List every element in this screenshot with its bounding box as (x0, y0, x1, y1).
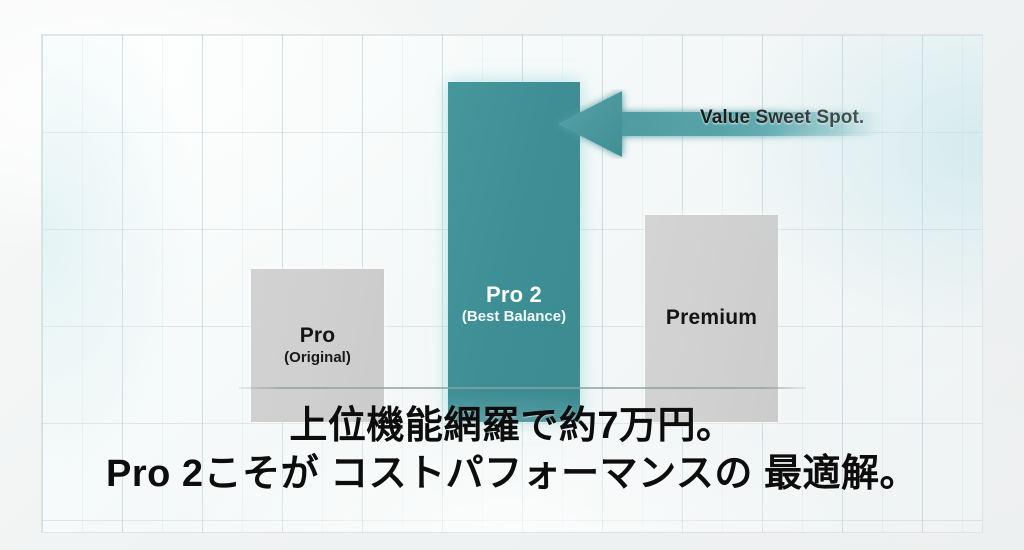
caption-line-2-highlight: コストパフォーマンスの (330, 453, 753, 495)
caption-line-2-highlight-wrap: コストパフォーマンスの (330, 451, 753, 498)
caption-line-2: Pro 2こそが コストパフォーマンスの 最適解。 (41, 451, 983, 498)
caption-line-1: 上位機能網羅で約7万円。 (41, 404, 983, 449)
value-sweet-spot-callout: Value Sweet Spot. (552, 89, 952, 159)
bar-pro-2-labels: Pro 2 (Best Balance) (462, 283, 566, 325)
caption-line-2-prefix: Pro 2こそが (106, 453, 319, 495)
caption-block: 上位機能網羅で約7万円。 Pro 2こそが コストパフォーマンスの 最適解。 (41, 404, 983, 498)
bar-pro-2-sublabel: (Best Balance) (462, 308, 566, 325)
caption-line-2-suffix: 最適解。 (764, 453, 918, 495)
bar-pro-label: Pro (284, 325, 351, 347)
bar-pro-sublabel: (Original) (284, 349, 351, 366)
bar-pro-labels: Pro (Original) (284, 325, 351, 366)
bar-premium-label: Premium (666, 307, 757, 329)
bar-pro: Pro (Original) (251, 269, 384, 422)
bar-pro-2-label: Pro 2 (462, 283, 566, 306)
bar-premium: Premium (645, 215, 778, 422)
callout-label: Value Sweet Spot. (700, 107, 864, 129)
bar-premium-labels: Premium (666, 307, 757, 329)
chart-baseline-axis (239, 387, 806, 389)
